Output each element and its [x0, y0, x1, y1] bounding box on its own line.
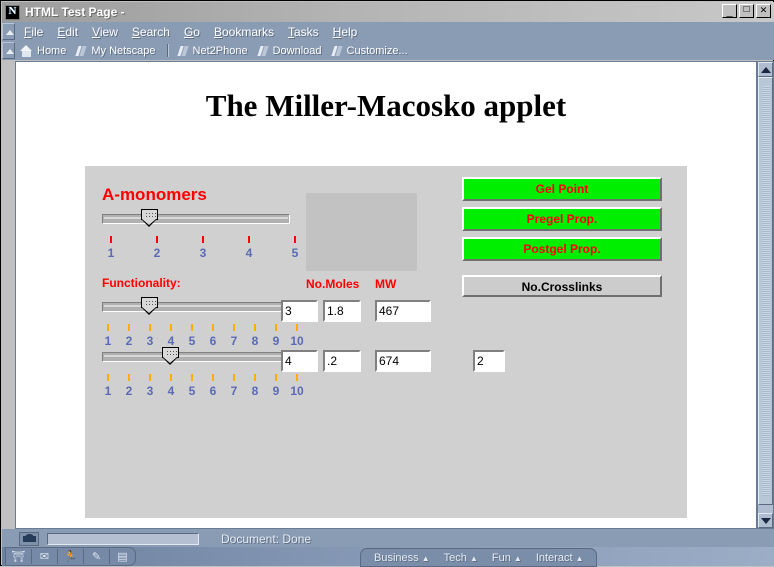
- bookmark-icon: [257, 45, 269, 57]
- slider-tick: [110, 236, 112, 243]
- netscape-icon: [5, 5, 20, 20]
- no-moles-input-2[interactable]: [323, 350, 361, 372]
- close-icon: ✕: [757, 4, 770, 17]
- mail-icon[interactable]: ✉: [32, 549, 58, 564]
- gel-point-button[interactable]: Gel Point: [462, 177, 662, 201]
- chevron-up-icon: ▲: [576, 554, 584, 563]
- slider-tick: [128, 324, 130, 331]
- chevron-up-icon: ▲: [514, 554, 522, 563]
- personal-toolbar: Home My Netscape Net2Phone Download Cust…: [2, 41, 774, 60]
- menu-file[interactable]: File: [17, 24, 50, 40]
- menu-edit[interactable]: Edit: [50, 24, 85, 40]
- slider-tick-label: 1: [101, 334, 115, 348]
- page-content: The Miller-Macosko applet A-monomers 1 2…: [15, 61, 757, 529]
- slider-tick: [275, 374, 277, 381]
- slider-tick-label: 6: [206, 384, 220, 398]
- toolbar-item-my-netscape-label: My Netscape: [91, 45, 155, 57]
- functionality-input-2[interactable]: [281, 350, 318, 372]
- slider-tick-label: 2: [122, 384, 136, 398]
- mw-label: MW: [375, 277, 396, 291]
- sidebar-tab-tech[interactable]: Tech ▲: [444, 552, 478, 564]
- slider-tick: [296, 374, 298, 381]
- menu-bookmarks[interactable]: Bookmarks: [207, 24, 281, 40]
- sidebar-tabs: Business ▲ Tech ▲ Fun ▲ Interact ▲: [360, 548, 597, 567]
- scroll-down-button[interactable]: [758, 513, 773, 528]
- minimize-icon: _: [723, 4, 736, 21]
- menubar-collapse-handle[interactable]: [2, 23, 15, 40]
- maximize-button[interactable]: □: [739, 4, 754, 18]
- slider-tick-label: 9: [269, 384, 283, 398]
- no-moles-label: No.Moles: [306, 277, 359, 291]
- chevron-down-icon: [761, 518, 771, 524]
- sidebar-tab-fun[interactable]: Fun ▲: [492, 552, 522, 564]
- slider-tick: [294, 236, 296, 243]
- minimize-button[interactable]: _: [722, 4, 737, 18]
- slider-tick: [149, 324, 151, 331]
- menu-view[interactable]: View: [85, 24, 125, 40]
- menu-search[interactable]: Search: [125, 24, 177, 40]
- address-book-icon[interactable]: ▤: [110, 549, 135, 564]
- slider-track[interactable]: [102, 352, 290, 362]
- toolbar-item-net2phone-label: Net2Phone: [193, 45, 248, 57]
- scroll-up-button[interactable]: [758, 62, 773, 77]
- status-text: Document: Done: [221, 532, 311, 546]
- slider-tick-label: 1: [104, 246, 118, 260]
- slider-tick-label: 5: [185, 384, 199, 398]
- slider-tick: [254, 374, 256, 381]
- home-icon: [20, 45, 33, 57]
- vertical-scrollbar[interactable]: [757, 61, 774, 529]
- slider-tick: [254, 324, 256, 331]
- slider-tick: [191, 324, 193, 331]
- slider-thumb[interactable]: [141, 209, 158, 227]
- no-moles-input-1[interactable]: [323, 300, 361, 322]
- slider-tick-label: 6: [206, 334, 220, 348]
- functionality-input-1[interactable]: [281, 300, 318, 322]
- scrollbar-thumb[interactable]: [758, 77, 773, 505]
- progress-bar: [47, 533, 199, 545]
- slider-tick-label: 3: [143, 334, 157, 348]
- status-bar: Document: Done: [2, 529, 774, 549]
- toolbar-separator: [167, 44, 169, 57]
- pregel-prop-button[interactable]: Pregel Prop.: [462, 207, 662, 231]
- miller-macosko-applet: A-monomers 1 2 3 4 5 Funct: [85, 166, 687, 518]
- sidebar-tab-fun-label: Fun: [492, 552, 511, 564]
- bookmark-icon: [177, 45, 189, 57]
- navigator-glyph: ⛩: [6, 549, 31, 564]
- slider-tick: [107, 324, 109, 331]
- slider-tick-label: 3: [143, 384, 157, 398]
- chevron-up-icon: ▲: [422, 554, 430, 563]
- slider-tick-label: 8: [248, 384, 262, 398]
- slider-tick: [275, 324, 277, 331]
- mail-glyph: ✉: [32, 549, 57, 564]
- chevron-up-icon: [761, 67, 771, 73]
- postgel-prop-button[interactable]: Postgel Prop.: [462, 237, 662, 261]
- toolbar-item-customize[interactable]: Customize...: [328, 45, 414, 57]
- instant-messenger-icon[interactable]: 🏃: [58, 549, 84, 564]
- slider-tick: [107, 374, 109, 381]
- slider-tick-label: 4: [164, 334, 178, 348]
- slider-tick: [191, 374, 193, 381]
- slider-tick-label: 10: [287, 384, 307, 398]
- menu-help[interactable]: Help: [326, 24, 365, 40]
- slider-tick-label: 9: [269, 334, 283, 348]
- component-icon-group: ⛩ ✉ 🏃 ✎ ▤: [5, 547, 136, 566]
- slider-tick: [233, 374, 235, 381]
- composer-icon[interactable]: ✎: [84, 549, 110, 564]
- slider-tick: [170, 324, 172, 331]
- menu-go[interactable]: Go: [177, 24, 207, 40]
- lock-icon[interactable]: [19, 532, 39, 546]
- slider-tick-label: 4: [242, 246, 256, 260]
- applet-display-panel: [306, 193, 417, 271]
- a-monomers-label: A-monomers: [102, 185, 207, 205]
- slider-tick: [128, 374, 130, 381]
- slider-tick-label: 1: [101, 384, 115, 398]
- slider-tick: [296, 324, 298, 331]
- address-book-glyph: ▤: [110, 549, 135, 564]
- sidebar-tab-interact[interactable]: Interact ▲: [536, 552, 584, 564]
- slider-track[interactable]: [102, 214, 290, 224]
- slider-tick-label: 10: [287, 334, 307, 348]
- sidebar-tab-tech-label: Tech: [444, 552, 467, 564]
- toolbar-item-my-netscape[interactable]: My Netscape: [72, 45, 161, 57]
- window-controls: _ □ ✕: [722, 4, 771, 18]
- menu-bar: File Edit View Search Go Bookmarks Tasks…: [2, 22, 774, 41]
- page-title: The Miller-Macosko applet: [16, 88, 756, 124]
- menu-tasks[interactable]: Tasks: [281, 24, 326, 40]
- navigator-icon[interactable]: ⛩: [6, 549, 32, 564]
- title-bar: HTML Test Page - _ □ ✕: [2, 2, 774, 22]
- toolbar-item-home-label: Home: [37, 45, 66, 57]
- slider-tick: [156, 236, 158, 243]
- toolbar-item-download-label: Download: [273, 45, 322, 57]
- close-button[interactable]: ✕: [756, 4, 771, 18]
- toolbar-item-net2phone[interactable]: Net2Phone: [174, 45, 254, 57]
- slider-tick-label: 3: [196, 246, 210, 260]
- slider-tick-label: 8: [248, 334, 262, 348]
- slider-tick-label: 4: [164, 384, 178, 398]
- toolbar-item-home[interactable]: Home: [17, 45, 72, 57]
- slider-tick: [248, 236, 250, 243]
- slider-tick: [212, 374, 214, 381]
- slider-tick: [212, 324, 214, 331]
- maximize-icon: □: [740, 4, 753, 16]
- slider-tick: [233, 324, 235, 331]
- browser-window: HTML Test Page - _ □ ✕ File Edit View Se…: [0, 0, 774, 566]
- component-bar: ⛩ ✉ 🏃 ✎ ▤ Business ▲ Tech ▲ Fun ▲ Intera…: [2, 547, 774, 566]
- sidebar-tab-interact-label: Interact: [536, 552, 573, 564]
- slider-tick: [202, 236, 204, 243]
- slider-tick: [170, 374, 172, 381]
- slider-thumb[interactable]: [162, 347, 179, 365]
- toolbar-item-download[interactable]: Download: [254, 45, 328, 57]
- window-title: HTML Test Page -: [25, 5, 125, 19]
- composer-glyph: ✎: [84, 549, 109, 564]
- slider-tick-label: 2: [122, 334, 136, 348]
- slider-tick-label: 7: [227, 334, 241, 348]
- slider-tick-label: 5: [288, 246, 302, 260]
- mw-input-2[interactable]: [375, 350, 431, 372]
- instant-messenger-glyph: 🏃: [58, 549, 83, 564]
- personal-toolbar-collapse-handle[interactable]: [2, 42, 15, 59]
- slider-tick: [149, 374, 151, 381]
- chevron-up-icon: ▲: [470, 554, 478, 563]
- mw-input-1[interactable]: [375, 300, 431, 322]
- bookmark-icon: [75, 45, 87, 57]
- functionality-label: Functionality:: [102, 276, 181, 290]
- slider-tick-label: 2: [150, 246, 164, 260]
- slider-track[interactable]: [102, 302, 290, 312]
- crosslinks-input[interactable]: [473, 350, 505, 372]
- sidebar-tab-business-label: Business: [374, 552, 419, 564]
- no-crosslinks-button[interactable]: No.Crosslinks: [462, 275, 662, 297]
- slider-tick-label: 5: [185, 334, 199, 348]
- sidebar-tab-business[interactable]: Business ▲: [374, 552, 430, 564]
- slider-thumb[interactable]: [141, 297, 158, 315]
- toolbar-item-customize-label: Customize...: [347, 45, 408, 57]
- slider-tick-label: 7: [227, 384, 241, 398]
- bookmark-icon: [331, 45, 343, 57]
